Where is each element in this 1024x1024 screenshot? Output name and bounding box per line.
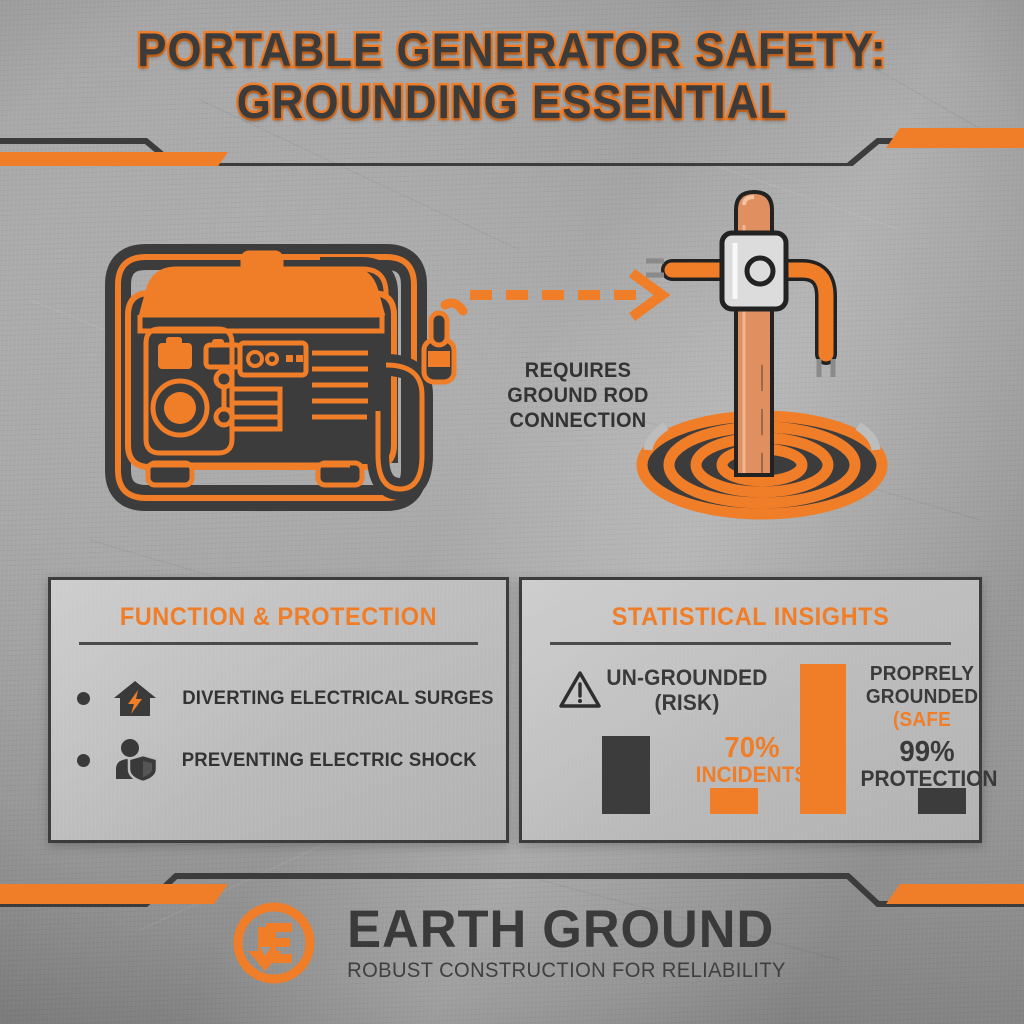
panel-function-protection: FUNCTION & PROTECTION DIVERTING ELECTRIC… (48, 577, 509, 843)
title-line-2: GROUNDING ESSENTIAL (36, 76, 988, 128)
label-ungrounded-line2: (RISK) (597, 690, 778, 715)
panel-statistical-insights: STATISTICAL INSIGHTS UN-GROUNDED (RISK) … (519, 577, 982, 843)
dashed-arrow (445, 273, 662, 317)
bullet-list: DIVERTING ELECTRICAL SURGES PREVENTING E… (51, 667, 506, 791)
person-shield-icon (112, 737, 158, 783)
stat-protection-value: 99% (861, 737, 994, 767)
stat-incidents-label: INCIDENTS (695, 763, 809, 787)
stats-chart: UN-GROUNDED (RISK) PROPRELY GROUNDED (SA… (522, 645, 979, 820)
callout-line-2: GROUND ROD (483, 383, 673, 408)
bullet-dot (77, 692, 90, 705)
earth-ground-logo-icon (230, 899, 318, 987)
infographic-canvas: PORTABLE GENERATOR SAFETY: GROUNDING ESS… (0, 0, 1024, 1024)
bar-ungrounded (602, 736, 650, 814)
house-lightning-icon (112, 675, 158, 721)
bar-incidents (710, 788, 758, 814)
list-item[interactable]: PREVENTING ELECTRIC SHOCK (51, 729, 506, 791)
bar-protection (918, 788, 966, 814)
label-grounded-line1: PROPRELY (846, 663, 998, 686)
page-title: PORTABLE GENERATOR SAFETY: GROUNDING ESS… (0, 24, 1024, 128)
stat-protection: 99% PROTECTION (861, 737, 994, 791)
title-line-1: PORTABLE GENERATOR SAFETY: (36, 24, 988, 76)
panel-left-divider (79, 642, 478, 645)
stat-incidents: 70% INCIDENTS (695, 733, 809, 787)
warning-triangle-icon (558, 669, 602, 711)
callout-requires-ground-rod: REQUIRES GROUND ROD CONNECTION (483, 358, 673, 433)
callout-line-1: REQUIRES (483, 358, 673, 383)
panel-right-title: STATISTICAL INSIGHTS (536, 603, 966, 632)
bullet-label: PREVENTING ELECTRIC SHOCK (182, 749, 477, 772)
footer-brand: EARTH GROUND ROBUST CONSTRUCTION FOR REL… (0, 893, 1024, 993)
label-grounded-line3: (SAFE (846, 709, 998, 732)
callout-line-3: CONNECTION (483, 408, 673, 433)
bullet-dot (77, 754, 90, 767)
label-grounded-line2: GROUNDED (846, 686, 998, 709)
panel-left-title: FUNCTION & PROTECTION (65, 603, 493, 632)
stat-incidents-value: 70% (695, 733, 809, 763)
bar-grounded (800, 664, 846, 814)
label-ungrounded-line1: UN-GROUNDED (597, 665, 778, 690)
brand-name: EARTH GROUND (347, 903, 786, 957)
bullet-label: DIVERTING ELECTRICAL SURGES (182, 687, 494, 710)
label-ungrounded: UN-GROUNDED (RISK) (597, 665, 778, 715)
brand-text: EARTH GROUND ROBUST CONSTRUCTION FOR REL… (338, 903, 795, 983)
label-properly-grounded: PROPRELY GROUNDED (SAFE (846, 663, 998, 732)
brand-tagline: ROBUST CONSTRUCTION FOR RELIABILITY (347, 959, 786, 983)
portable-generator (118, 253, 454, 498)
list-item[interactable]: DIVERTING ELECTRICAL SURGES (51, 667, 506, 729)
